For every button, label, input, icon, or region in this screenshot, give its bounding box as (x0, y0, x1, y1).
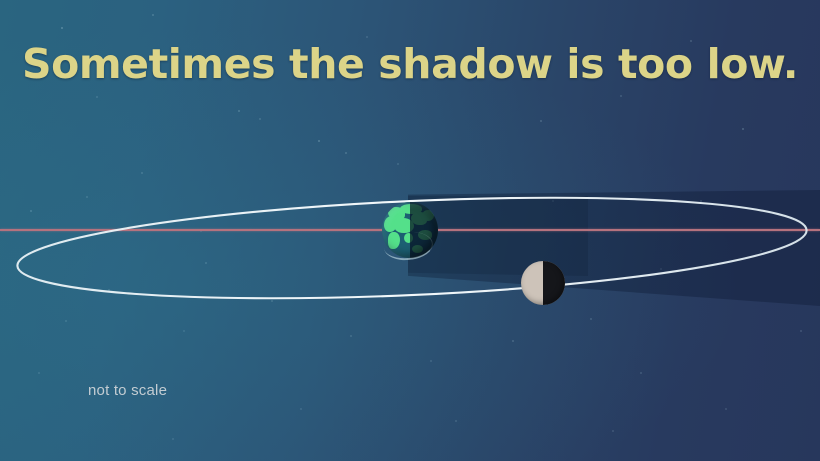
earth-body (382, 202, 438, 258)
illustration-canvas: Sometimes the shadow is too low. not to … (0, 0, 820, 461)
slide-title: Sometimes the shadow is too low. (0, 40, 820, 88)
earth-shading (382, 202, 438, 258)
scale-disclaimer: not to scale (88, 382, 167, 399)
moon-shading (521, 261, 565, 305)
moon-body (521, 261, 565, 305)
